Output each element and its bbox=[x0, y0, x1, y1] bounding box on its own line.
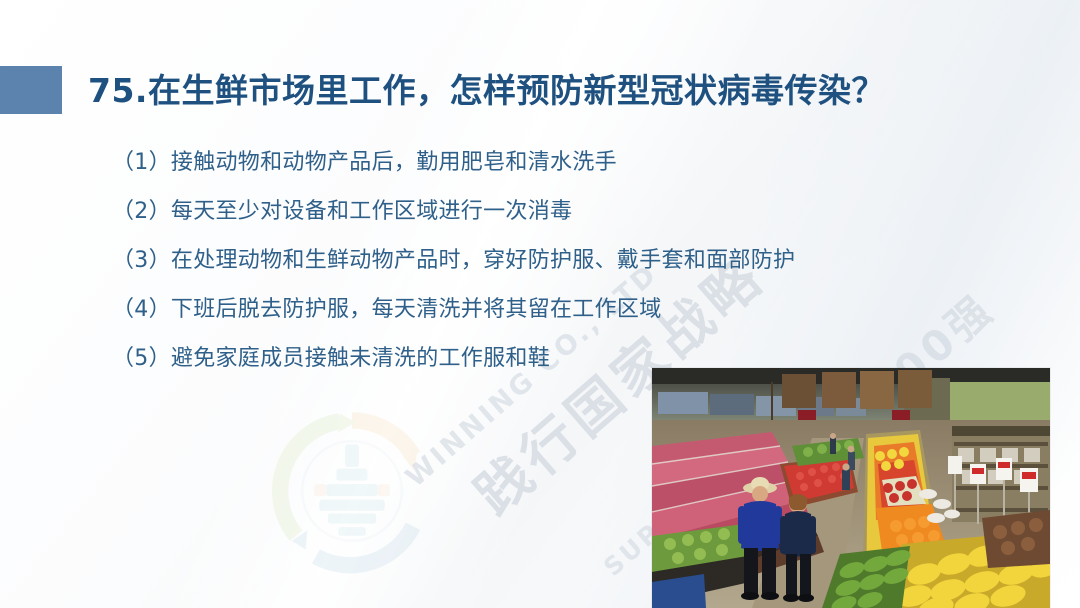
market-photo bbox=[652, 368, 1050, 608]
list-item: （2）每天至少对设备和工作区域进行一次消毒 bbox=[112, 201, 992, 223]
list-item: （4）下班后脱去防护服，每天清洗并将其留在工作区域 bbox=[112, 299, 992, 321]
page-title: 75.在生鲜市场里工作，怎样预防新型冠状病毒传染？ bbox=[88, 64, 885, 112]
title-accent-block bbox=[0, 66, 62, 114]
circular-arrows-globe-logo-icon bbox=[266, 405, 438, 577]
market-photo-illustration bbox=[652, 368, 1050, 608]
list-item: （5）避免家庭成员接触未清洗的工作服和鞋 bbox=[112, 348, 992, 370]
list-item: （3）在处理动物和生鲜动物产品时，穿好防护服、戴手套和面部防护 bbox=[112, 250, 992, 272]
slide-canvas: 践行国家战略 城市服务孵化500强 WINNING CO., LTD SUPPO… bbox=[0, 0, 1080, 608]
body-list: （1）接触动物和动物产品后，勤用肥皂和清水洗手 （2）每天至少对设备和工作区域进… bbox=[112, 152, 992, 397]
list-item: （1）接触动物和动物产品后，勤用肥皂和清水洗手 bbox=[112, 152, 992, 174]
